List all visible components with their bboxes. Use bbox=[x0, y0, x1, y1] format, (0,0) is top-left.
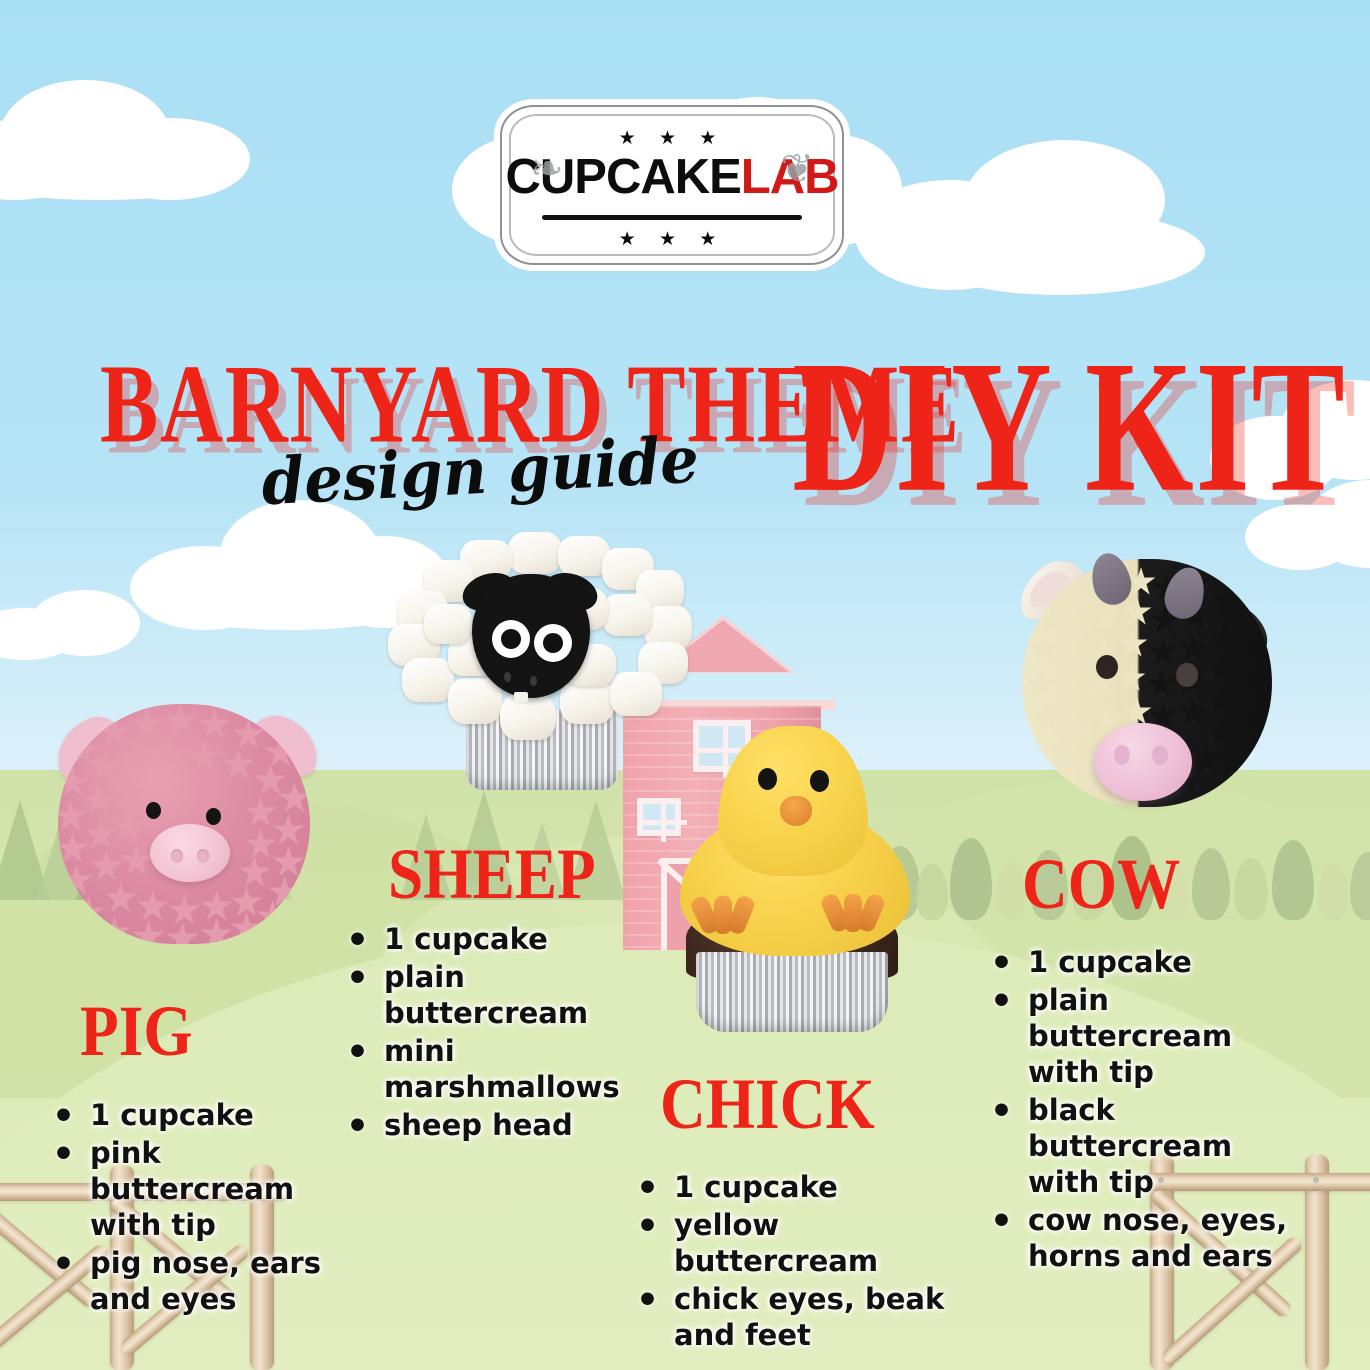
list-item: cow nose, eyes, horns and ears bbox=[982, 1203, 1312, 1275]
cloud-small-left bbox=[0, 590, 150, 660]
list-item: 1 cupcake bbox=[338, 922, 668, 958]
pig-cupcake-photo bbox=[58, 676, 318, 944]
sheep-tooth bbox=[514, 692, 528, 702]
sheep-nostril-right bbox=[530, 676, 537, 686]
logo-plaque: ★ ★ ★ CUPCAKELAB ★ ★ ★ ❧ ❦ bbox=[500, 105, 844, 265]
sheep-eye-left bbox=[492, 620, 530, 658]
flourish-left-icon: ❧ bbox=[530, 149, 564, 189]
section-list-chick: 1 cupcake yellow buttercream chick eyes,… bbox=[628, 1170, 968, 1356]
logo-stars-bottom: ★ ★ ★ bbox=[502, 228, 842, 251]
title-line-2: DIY KIT bbox=[792, 318, 1346, 535]
list-item: chick eyes, beak and feet bbox=[628, 1282, 968, 1354]
list-item: pink buttercream with tip bbox=[44, 1136, 374, 1244]
list-item: plain buttercream with tip bbox=[982, 983, 1312, 1091]
list-item: 1 cupcake bbox=[628, 1170, 968, 1206]
chick-foot-right bbox=[826, 892, 884, 932]
list-item: black buttercream with tip bbox=[982, 1093, 1312, 1201]
section-heading-pig: PIG bbox=[80, 995, 193, 1067]
chick-eye-right bbox=[810, 770, 829, 792]
list-item: mini marshmallows bbox=[338, 1034, 668, 1106]
sheep-eye-right bbox=[534, 624, 572, 662]
cloud-top-left bbox=[0, 80, 270, 200]
section-heading-chick: CHICK bbox=[660, 1068, 875, 1140]
cow-snout bbox=[1094, 723, 1192, 801]
chick-eye-left bbox=[758, 768, 777, 790]
sheep-cupcake-photo bbox=[388, 532, 688, 792]
section-heading-sheep: SHEEP bbox=[388, 838, 596, 910]
section-list-cow: 1 cupcake plain buttercream with tip bla… bbox=[982, 945, 1312, 1277]
list-item: 1 cupcake bbox=[982, 945, 1312, 981]
chick-cupcake-photo bbox=[668, 712, 918, 1032]
chick-cupcake-liner bbox=[696, 952, 888, 1032]
chick-foot-left bbox=[696, 894, 754, 934]
list-item: yellow buttercream bbox=[628, 1208, 968, 1280]
section-list-sheep: 1 cupcake plain buttercream mini marshma… bbox=[338, 922, 668, 1146]
cow-eye-right bbox=[1176, 663, 1198, 687]
flourish-right-icon: ❦ bbox=[780, 149, 814, 189]
pig-snout bbox=[150, 824, 230, 882]
chick-beak bbox=[780, 796, 812, 826]
list-item: 1 cupcake bbox=[44, 1098, 374, 1134]
list-item: sheep head bbox=[338, 1108, 668, 1144]
logo-rule bbox=[542, 215, 802, 220]
section-list-pig: 1 cupcake pink buttercream with tip pig … bbox=[44, 1098, 374, 1320]
poster-canvas: ★ ★ ★ CUPCAKELAB ★ ★ ★ ❧ ❦ BARNYARD THEM… bbox=[0, 0, 1370, 1370]
brand-logo[interactable]: ★ ★ ★ CUPCAKELAB ★ ★ ★ ❧ ❦ bbox=[462, 95, 882, 280]
pig-eye-right bbox=[206, 808, 221, 825]
cow-cupcake-photo bbox=[1010, 545, 1280, 825]
cow-eye-left bbox=[1096, 655, 1118, 679]
list-item: pig nose, ears and eyes bbox=[44, 1246, 374, 1318]
sheep-nostril-left bbox=[504, 672, 511, 682]
cloud-top-right bbox=[855, 140, 1225, 300]
pig-eye-left bbox=[146, 802, 161, 819]
section-heading-cow: COW bbox=[1022, 848, 1180, 920]
list-item: plain buttercream bbox=[338, 960, 668, 1032]
